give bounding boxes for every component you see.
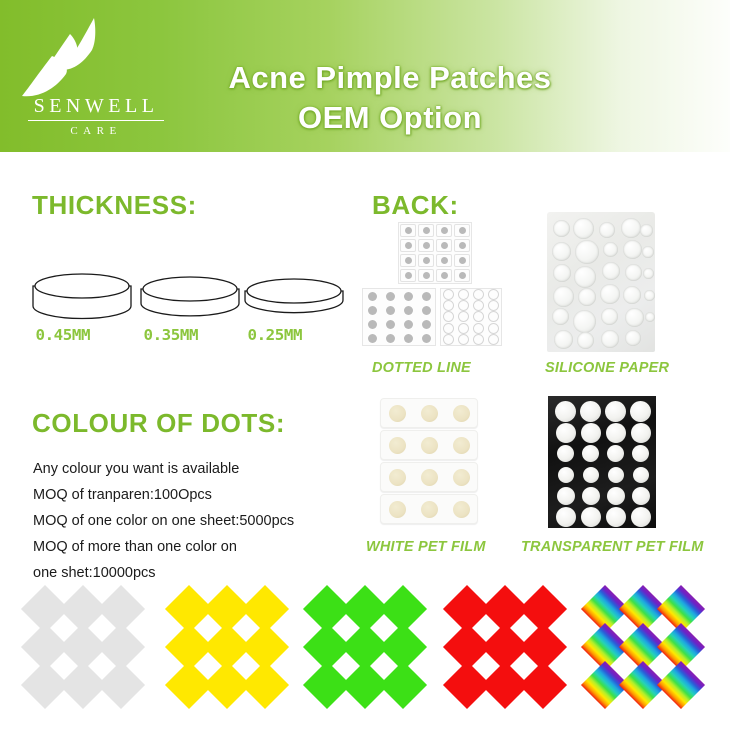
silicone-circle	[552, 308, 569, 325]
sheet-cell	[486, 300, 501, 311]
colour-swatch-green[interactable]	[310, 592, 430, 710]
sheet-cell	[417, 268, 435, 283]
patch-dot	[581, 507, 601, 527]
patch-dot	[421, 469, 438, 486]
sheet-cell	[417, 253, 435, 268]
colour-swatch-transparent[interactable]	[28, 592, 148, 710]
patch-dot	[441, 242, 448, 249]
patch-ring	[458, 311, 469, 322]
sheet-cell	[399, 289, 417, 303]
swatch-diamond	[519, 661, 567, 709]
patch-ring	[488, 323, 499, 334]
patch-dot	[441, 227, 448, 234]
page-title-line2: OEM Option	[180, 98, 600, 138]
patch-ring	[473, 289, 484, 300]
patch-dot	[423, 227, 430, 234]
patch-dot	[423, 257, 430, 264]
sheet-cell	[417, 238, 435, 253]
dotted-line-sheets	[362, 222, 507, 344]
patch-dot	[459, 242, 466, 249]
patch-dot	[405, 257, 412, 264]
swatch-diamond	[379, 661, 427, 709]
patch-dot	[583, 467, 599, 483]
sheet-cell	[381, 317, 399, 331]
logo-divider	[28, 120, 164, 121]
silicone-circle	[552, 242, 571, 261]
patch-dot	[421, 437, 438, 454]
patch-dot	[368, 306, 377, 315]
product-infographic: SENWELL CARE Acne Pimple Patches OEM Opt…	[0, 0, 730, 730]
silicone-circle	[625, 330, 641, 346]
sheet-cell-square	[436, 239, 452, 253]
sheet-cell	[399, 303, 417, 317]
sheet-cell-square	[400, 239, 416, 253]
patch-dot	[459, 227, 466, 234]
patch-dot	[453, 405, 470, 422]
sheet-rings	[440, 288, 502, 346]
swatch-diamond	[241, 661, 289, 709]
sheet-cell	[381, 331, 399, 345]
sheet-cell-square	[454, 254, 470, 268]
colour-info-line: Any colour you want is available	[33, 456, 363, 482]
sheet-cell	[417, 223, 435, 238]
sheet-cell	[456, 289, 471, 300]
silicone-circle	[573, 218, 594, 239]
thickness-disc	[242, 277, 346, 319]
patch-dot	[421, 501, 438, 518]
sheet-cell	[453, 268, 471, 283]
patch-ring	[443, 323, 454, 334]
sheet-cell	[456, 311, 471, 322]
thickness-label: 0.35MM	[143, 326, 198, 344]
pet-strip	[380, 462, 478, 492]
patch-dot	[632, 487, 650, 505]
sheet-cell	[435, 223, 453, 238]
sheet-cell	[441, 300, 456, 311]
patch-ring	[473, 300, 484, 311]
patch-dot	[558, 467, 574, 483]
patch-dot	[404, 320, 413, 329]
patch-ring	[488, 334, 499, 345]
silicone-circle	[553, 286, 574, 307]
patch-dot	[557, 445, 574, 462]
sheet-plain-dots	[362, 288, 436, 346]
patch-dot	[555, 401, 576, 422]
patch-ring	[488, 311, 499, 322]
sheet-cell	[486, 311, 501, 322]
silicone-circle	[578, 288, 596, 306]
patch-dot	[582, 445, 599, 462]
sheet-cell	[441, 334, 456, 345]
patch-ring	[458, 323, 469, 334]
sheet-cell	[399, 317, 417, 331]
sheet-cell	[486, 289, 501, 300]
sheet-cell-square	[436, 224, 452, 238]
sheet-cell-square	[454, 224, 470, 238]
patch-dot	[441, 257, 448, 264]
patch-dot	[632, 445, 649, 462]
patch-ring	[473, 334, 484, 345]
sheet-cell	[486, 323, 501, 334]
white-pet-film-label: WHITE PET FILM	[366, 539, 486, 555]
silicone-circle	[573, 310, 596, 333]
logo-wordmark: SENWELL CARE	[22, 96, 170, 137]
silicone-circle	[643, 268, 654, 279]
logo-name: SENWELL	[22, 96, 170, 116]
silicone-circle	[603, 242, 618, 257]
sheet-cell	[417, 317, 435, 331]
swatch-diamond	[97, 661, 145, 709]
silicone-circle	[645, 312, 655, 322]
sheet-cell	[453, 253, 471, 268]
transparent-pet-film-photo	[548, 396, 656, 528]
patch-dot	[404, 292, 413, 301]
sheet-cell	[441, 311, 456, 322]
dotted-line-label: DOTTED LINE	[372, 360, 471, 376]
patch-ring	[443, 334, 454, 345]
silicone-circle	[553, 220, 570, 237]
patch-ring	[443, 311, 454, 322]
patch-dot	[581, 423, 601, 443]
patch-dot	[404, 306, 413, 315]
patch-dot	[386, 334, 395, 343]
sheet-cell-square	[436, 254, 452, 268]
sheet-cell-square	[400, 224, 416, 238]
patch-dot	[386, 320, 395, 329]
patch-ring	[473, 323, 484, 334]
sheet-cell-square	[454, 239, 470, 253]
sheet-cell	[417, 331, 435, 345]
sheet-cell	[363, 317, 381, 331]
sheet-cell	[363, 303, 381, 317]
patch-dot	[389, 469, 406, 486]
patch-dot	[422, 334, 431, 343]
patch-dot	[459, 257, 466, 264]
sheet-cell	[435, 268, 453, 283]
sheet-cell	[471, 311, 486, 322]
patch-dot	[556, 507, 576, 527]
pet-strip	[380, 398, 478, 428]
swatch-diamond	[657, 661, 705, 709]
patch-dot	[607, 445, 624, 462]
silicone-circle	[575, 240, 599, 264]
sheet-cell	[399, 238, 417, 253]
patch-ring	[488, 289, 499, 300]
sheet-cell	[399, 331, 417, 345]
silicone-circle	[600, 284, 620, 304]
sheet-cell	[471, 323, 486, 334]
sheet-cell-square	[418, 269, 434, 283]
silicone-circle	[625, 264, 642, 281]
patch-dot	[423, 242, 430, 249]
patch-ring	[458, 289, 469, 300]
silicone-circle	[574, 266, 596, 288]
sheet-cell	[399, 223, 417, 238]
silicone-circle	[553, 264, 571, 282]
sheet-cell	[441, 323, 456, 334]
sheet-cell	[453, 223, 471, 238]
patch-dot	[582, 487, 600, 505]
sheet-cell	[456, 334, 471, 345]
silicone-circle	[599, 222, 615, 238]
patch-dot	[389, 501, 406, 518]
sheet-cell	[486, 334, 501, 345]
patch-ring	[458, 300, 469, 311]
colour-info-line: MOQ of one color on one sheet:5000pcs	[33, 508, 363, 534]
sheet-cell	[471, 300, 486, 311]
patch-dot	[422, 306, 431, 315]
sheet-squares-dots	[398, 222, 472, 284]
patch-ring	[458, 334, 469, 345]
sheet-cell	[363, 289, 381, 303]
colour-info-line: MOQ of tranparen:100Opcs	[33, 482, 363, 508]
silicone-paper-label: SILICONE PAPER	[545, 360, 669, 376]
patch-dot	[422, 292, 431, 301]
silicone-circle	[642, 246, 654, 258]
patch-dot	[631, 423, 651, 443]
page-title: Acne Pimple Patches OEM Option	[180, 58, 600, 137]
patch-dot	[607, 487, 625, 505]
silicone-circle	[601, 308, 618, 325]
sheet-cell-square	[418, 239, 434, 253]
patch-dot	[557, 487, 575, 505]
patch-dot	[556, 423, 576, 443]
patch-dot	[606, 507, 626, 527]
sheet-cell	[417, 303, 435, 317]
back-heading: BACK:	[372, 190, 459, 221]
colour-info-line: one shet:10000pcs	[33, 560, 363, 586]
silicone-circle	[601, 330, 619, 348]
sheet-cell-square	[454, 269, 470, 283]
patch-ring	[473, 311, 484, 322]
silicone-circle	[625, 308, 644, 327]
thickness-disc	[30, 272, 134, 325]
thickness-heading: THICKNESS:	[32, 190, 197, 221]
patch-dot	[453, 501, 470, 518]
sheet-cell	[471, 334, 486, 345]
patch-dot	[580, 401, 601, 422]
patch-dot	[421, 405, 438, 422]
white-pet-film-photo	[380, 398, 478, 526]
sheet-cell	[435, 238, 453, 253]
patch-ring	[488, 300, 499, 311]
silicone-circle	[621, 218, 641, 238]
silicone-circle	[623, 286, 641, 304]
silicone-paper-photo	[547, 212, 655, 352]
patch-dot	[423, 272, 430, 279]
header-banner: SENWELL CARE Acne Pimple Patches OEM Opt…	[0, 0, 730, 152]
sheet-cell	[399, 268, 417, 283]
patch-dot	[389, 405, 406, 422]
patch-ring	[443, 300, 454, 311]
patch-dot	[389, 437, 406, 454]
thickness-label: 0.25MM	[247, 326, 302, 344]
transparent-pet-film-label: TRANSPARENT PET FILM	[521, 539, 704, 555]
patch-dot	[630, 401, 651, 422]
thickness-label: 0.45MM	[35, 326, 90, 344]
pet-strip	[380, 494, 478, 524]
sheet-cell-square	[400, 269, 416, 283]
patch-dot	[633, 467, 649, 483]
pet-strip	[380, 430, 478, 460]
sheet-cell	[453, 238, 471, 253]
patch-dot	[606, 423, 626, 443]
silicone-circle	[577, 332, 594, 349]
patch-dot	[605, 401, 626, 422]
sheet-cell	[381, 303, 399, 317]
patch-ring	[443, 289, 454, 300]
patch-dot	[368, 334, 377, 343]
colour-info-line: MOQ of more than one color on	[33, 534, 363, 560]
sheet-cell-square	[418, 254, 434, 268]
sheet-cell	[381, 289, 399, 303]
patch-dot	[441, 272, 448, 279]
page-title-line1: Acne Pimple Patches	[180, 58, 600, 98]
patch-dot	[453, 437, 470, 454]
sheet-cell-square	[400, 254, 416, 268]
patch-dot	[405, 227, 412, 234]
patch-dot	[405, 272, 412, 279]
patch-dot	[608, 467, 624, 483]
colour-swatch-red[interactable]	[450, 592, 570, 710]
sheet-cell	[456, 323, 471, 334]
patch-dot	[631, 507, 651, 527]
patch-dot	[405, 242, 412, 249]
logo-subtitle: CARE	[22, 125, 170, 137]
sheet-cell	[471, 289, 486, 300]
thickness-disc	[138, 275, 242, 322]
colour-swatch-yellow[interactable]	[172, 592, 292, 710]
sheet-cell-square	[418, 224, 434, 238]
colour-of-dots-heading: COLOUR OF DOTS:	[32, 408, 285, 439]
sheet-cell	[363, 331, 381, 345]
silicone-circle	[554, 330, 573, 349]
thickness-disc-group	[30, 252, 350, 322]
patch-dot	[368, 320, 377, 329]
silicone-circle	[640, 224, 653, 237]
sheet-cell	[441, 289, 456, 300]
sheet-cell	[435, 253, 453, 268]
patch-dot	[404, 334, 413, 343]
sheet-cell	[399, 253, 417, 268]
patch-dot	[422, 320, 431, 329]
colour-of-dots-text: Any colour you want is availableMOQ of t…	[33, 456, 363, 586]
patch-dot	[386, 306, 395, 315]
silicone-circle	[644, 290, 655, 301]
patch-dot	[459, 272, 466, 279]
patch-dot	[368, 292, 377, 301]
silicone-circle	[623, 240, 642, 259]
sheet-cell-square	[436, 269, 452, 283]
patch-dot	[453, 469, 470, 486]
sheet-cell	[417, 289, 435, 303]
silicone-circle	[602, 262, 620, 280]
sheet-cell	[456, 300, 471, 311]
colour-swatch-rainbow[interactable]	[588, 592, 708, 710]
patch-dot	[386, 292, 395, 301]
